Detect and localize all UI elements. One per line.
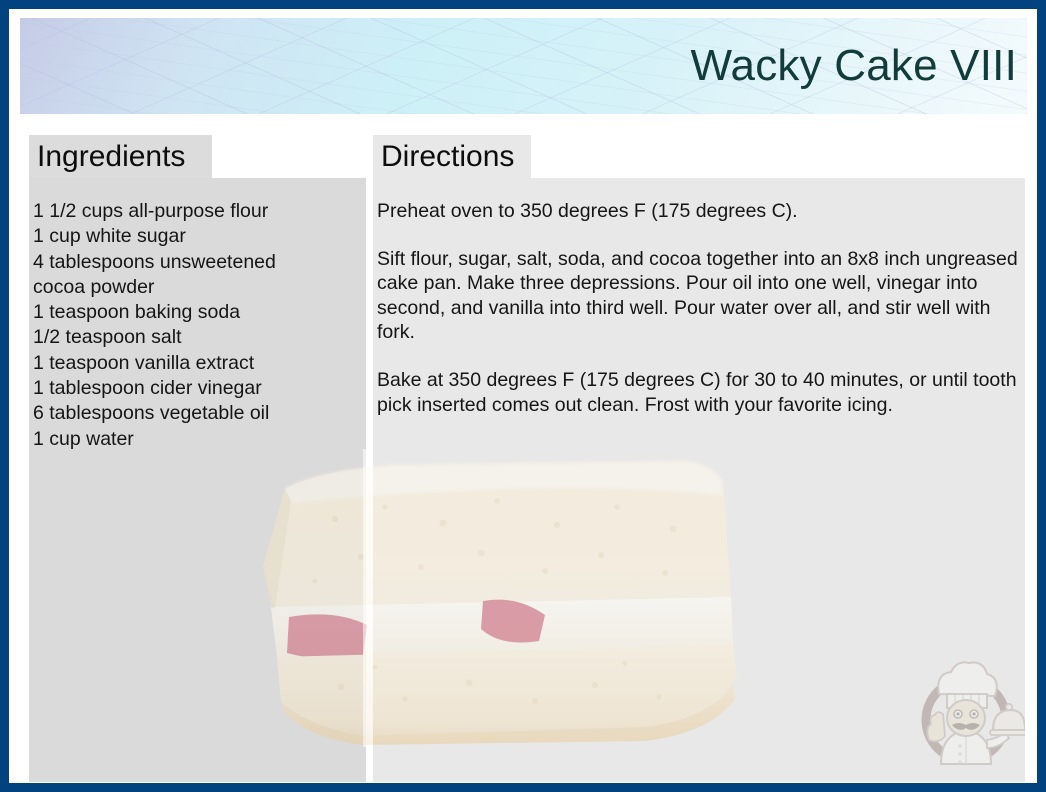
title-banner: Wacky Cake VIII (20, 18, 1027, 114)
ingredients-heading: Ingredients (37, 142, 185, 172)
list-item: 1 cup white sugar (33, 224, 353, 249)
chef-logo-icon (907, 652, 1025, 770)
direction-step: Preheat oven to 350 degrees F (175 degre… (377, 199, 1025, 224)
list-item: 4 tablespoons unsweetened cocoa powder (33, 250, 353, 301)
direction-step: Sift flour, sugar, salt, soda, and cocoa… (377, 247, 1025, 345)
list-item: 1 teaspoon baking soda (33, 300, 353, 325)
direction-step: Bake at 350 degrees F (175 degrees C) fo… (377, 368, 1025, 417)
list-item: 1 cup water (33, 427, 353, 452)
directions-section-header: Directions (373, 135, 531, 178)
list-item: 1 tablespoon cider vinegar (33, 376, 353, 401)
list-item: 1 1/2 cups all-purpose flour (33, 199, 353, 224)
recipe-title: Wacky Cake VIII (690, 41, 1017, 91)
recipe-card: Wacky Cake VIII Ingredients Directions (0, 0, 1046, 792)
list-item: 1/2 teaspoon salt (33, 325, 353, 350)
directions-steps: Preheat oven to 350 degrees F (175 degre… (377, 199, 1025, 417)
chef-logo-graphic (907, 652, 1025, 770)
list-item: 6 tablespoons vegetable oil (33, 401, 353, 426)
ingredients-section-header: Ingredients (29, 135, 212, 178)
directions-heading: Directions (381, 142, 514, 172)
list-item: 1 teaspoon vanilla extract (33, 351, 353, 376)
ingredients-list: 1 1/2 cups all-purpose flour 1 cup white… (33, 199, 353, 452)
